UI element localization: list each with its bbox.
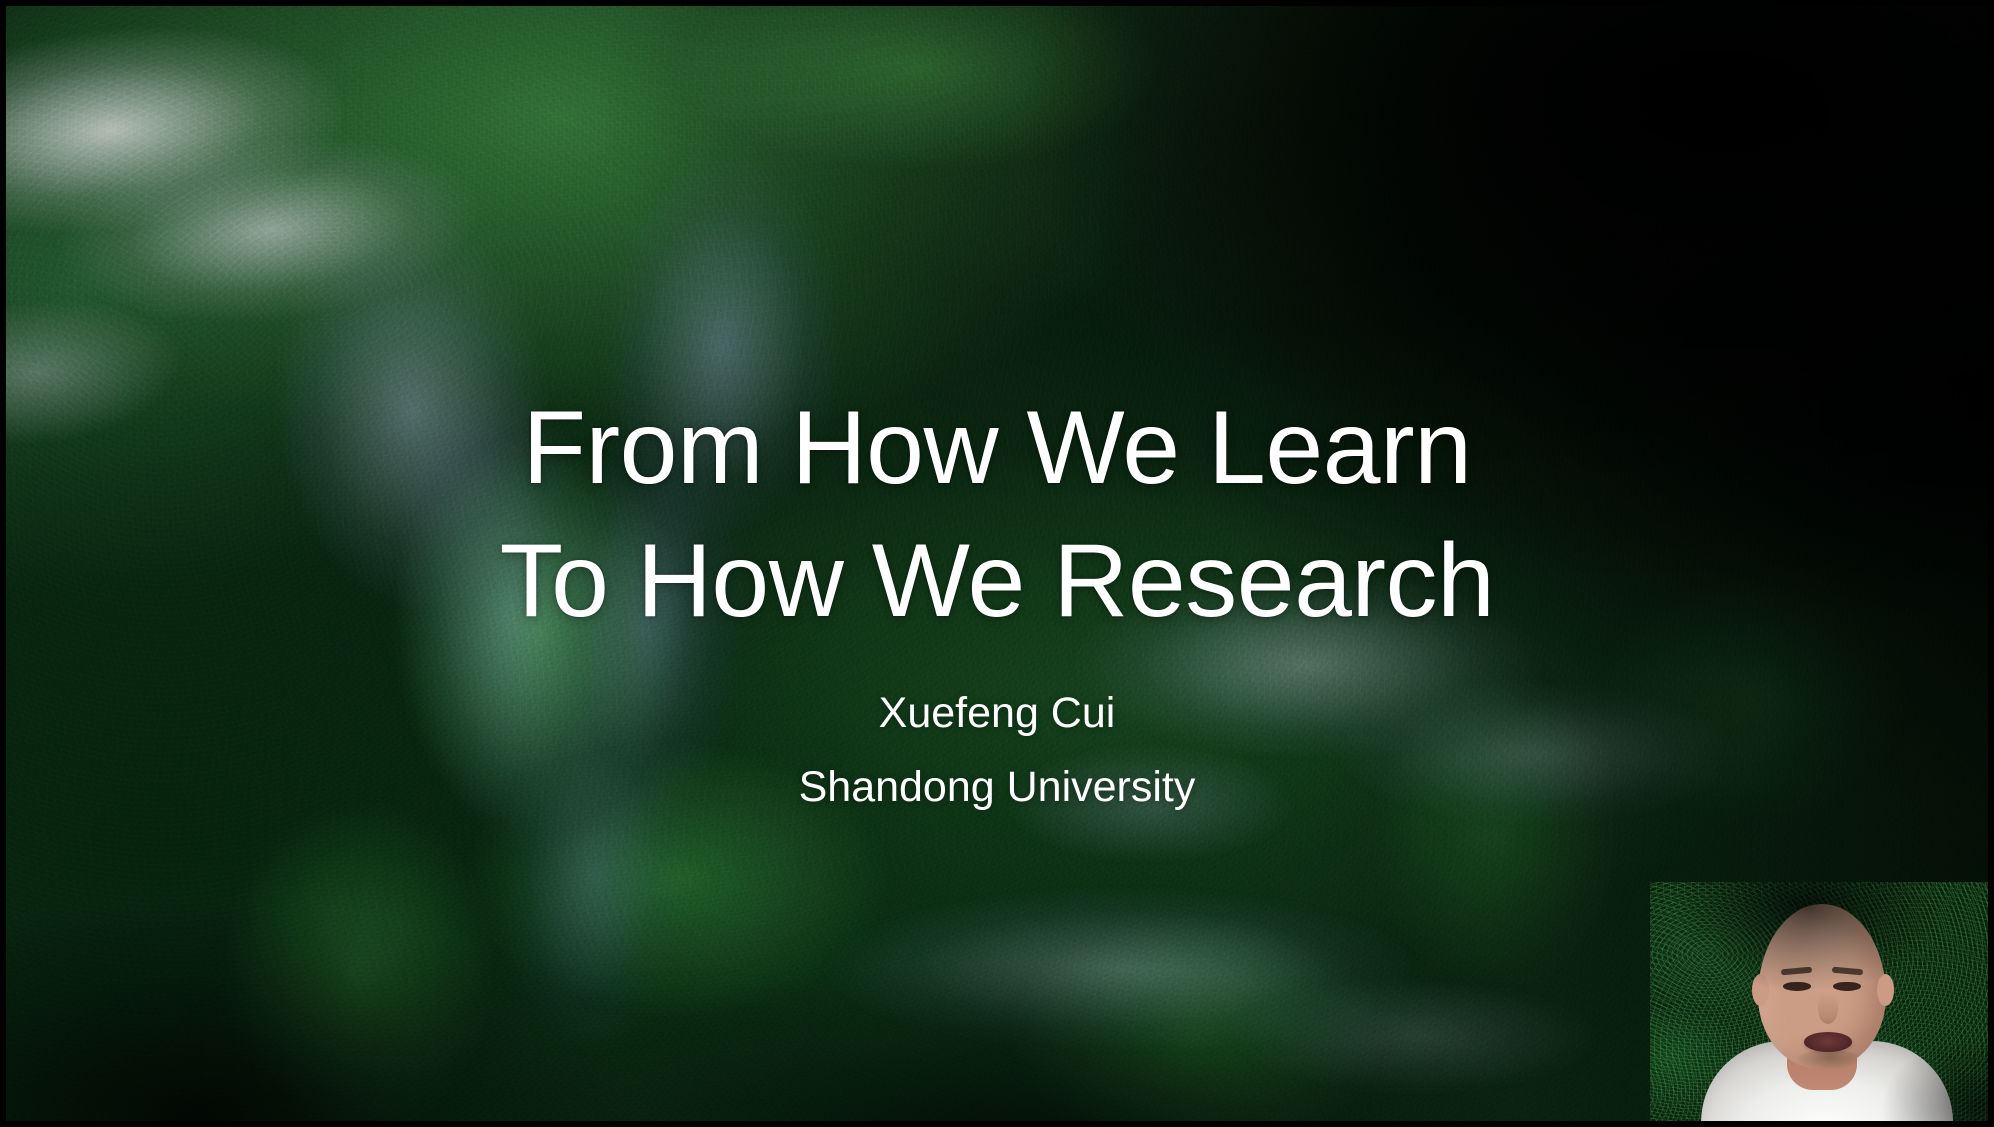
webcam-vignette [1650, 882, 1994, 1127]
speaker-webcam-overlay[interactable] [1650, 882, 1994, 1127]
presentation-stage: From How We Learn To How We Research Xue… [0, 0, 1994, 1127]
slide-author: Xuefeng Cui [0, 688, 1994, 740]
slide-title: From How We Learn To How We Research [0, 382, 1994, 648]
slide-affiliation: Shandong University [0, 762, 1994, 814]
